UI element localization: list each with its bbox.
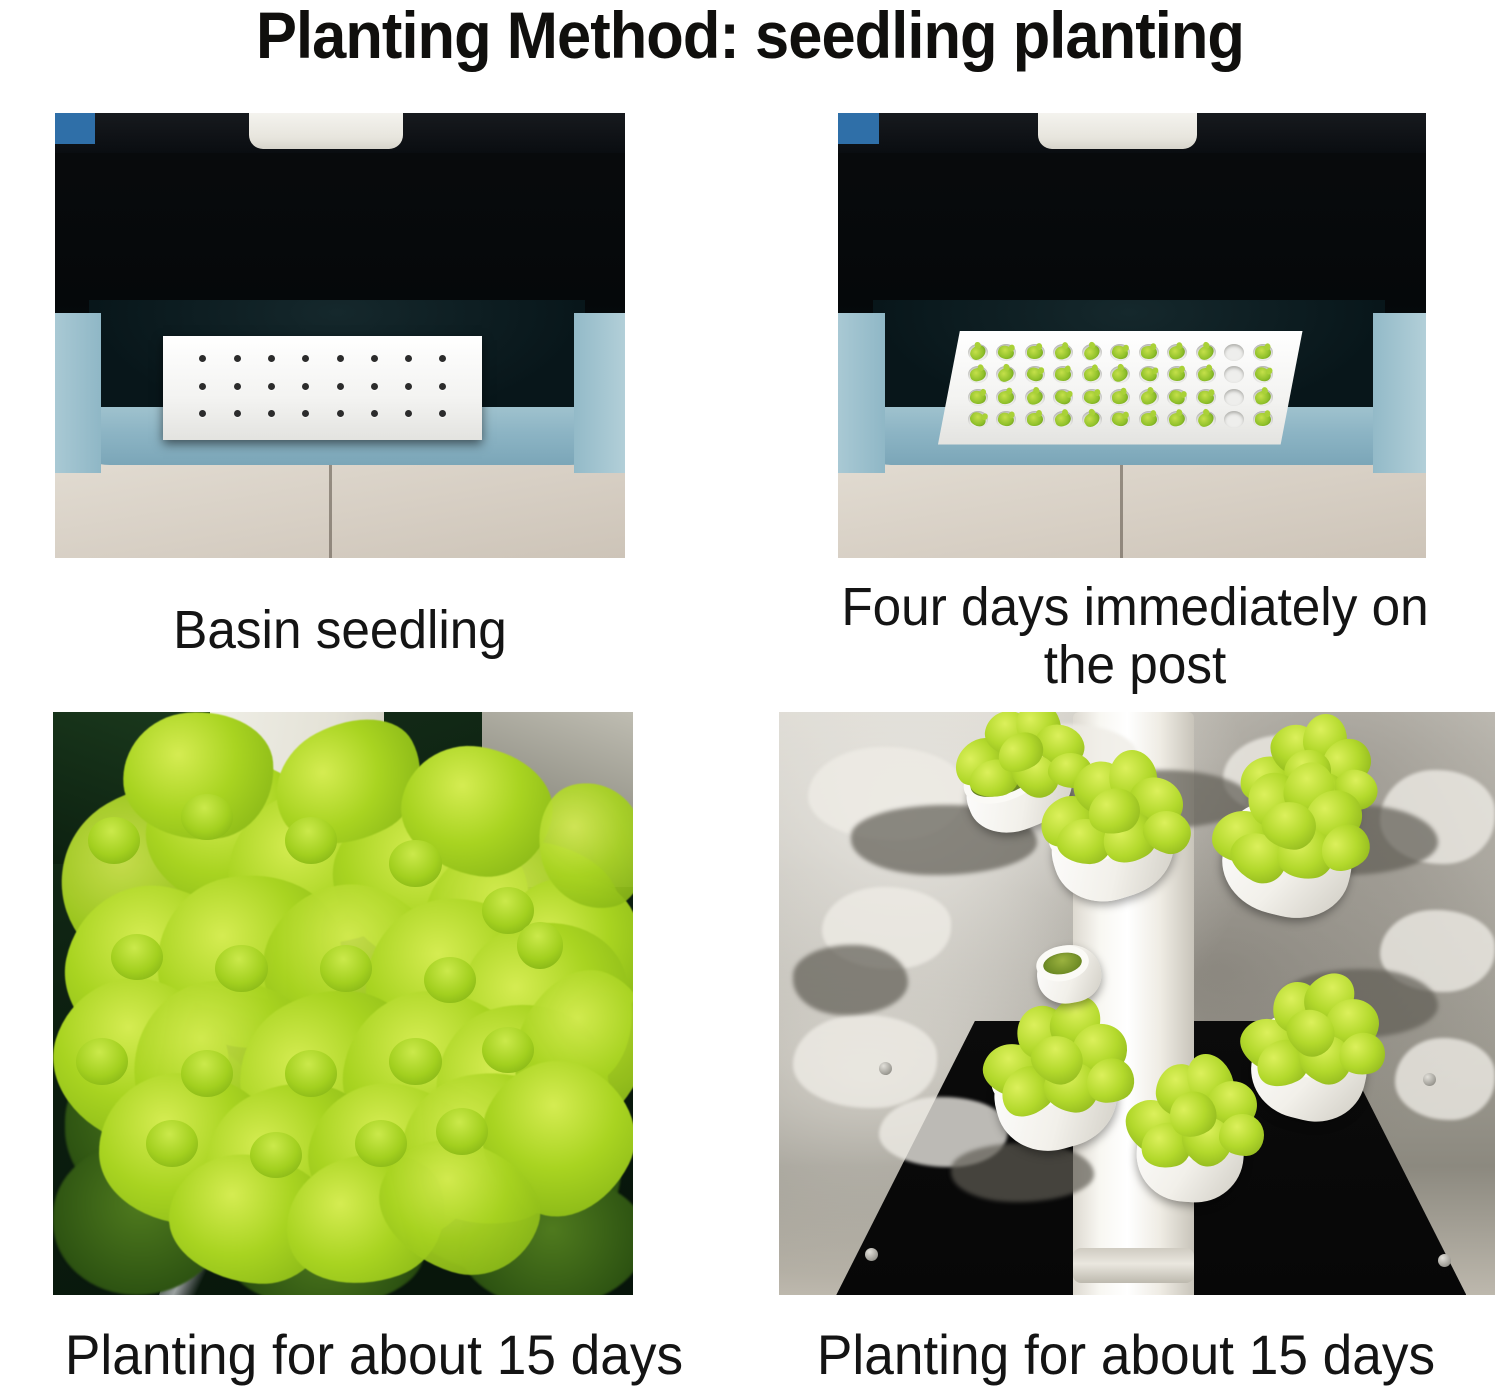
white-pipe-background [1038,113,1197,149]
leaf-highlight [181,1050,233,1097]
blue-corner-marker [838,113,879,144]
sprout-icon [1053,366,1073,383]
lettuce-scene [53,712,633,1295]
sprout-icon [1053,389,1073,406]
white-pipe-background [249,113,403,149]
sprout-icon [1196,344,1216,361]
sprout-icon [968,389,988,406]
seed-hole-icon [199,355,206,362]
seed-hole-icon [234,383,241,390]
sprout-icon [1167,366,1187,383]
foam-seed-board [163,336,482,441]
seed-hole-icon [268,383,275,390]
sprout-icon [1167,344,1187,361]
port-rim [1139,1093,1231,1162]
sprout-icon [1139,344,1159,361]
sprout-icon [1253,366,1273,383]
leaf-highlight [111,934,163,981]
sprout-icon [1253,411,1273,428]
sprout-icon [1053,344,1073,361]
seed-hole-icon [371,410,378,417]
leaf-highlight [517,922,563,969]
sprout-icon [1139,389,1159,406]
caption-four-days: Four days immediately on the post [807,578,1463,694]
tiled-floor [55,456,625,558]
sprout-icon [1196,366,1216,383]
seed-hole-icon [199,383,206,390]
tower-scene [779,712,1495,1295]
seed-hole-icon [234,410,241,417]
leaf-highlight [146,1120,198,1167]
sprout-icon [968,344,988,361]
seed-hole-icon [337,410,344,417]
sprout-icon [996,411,1016,428]
sprout-icon [968,366,988,383]
sprout-icon [1110,366,1130,383]
photo-panel-four-days [838,113,1426,558]
seed-hole-icon [405,355,412,362]
blue-corner-marker [55,113,95,144]
sprout-icon [1167,389,1187,406]
tray-rim-right [1373,313,1426,473]
sprout-icon [1053,411,1073,428]
sprout-icon [1224,344,1244,361]
foam-seed-board [938,331,1303,444]
sprout-hole-grid [963,341,1277,431]
sprout-icon [1167,411,1187,428]
wall-stain [793,945,908,1015]
leaf-highlight [285,817,337,864]
sprout-icon [1082,344,1102,361]
seed-hole-icon [439,383,446,390]
seed-hole-icon [439,355,446,362]
sprout-icon [1139,366,1159,383]
seed-hole-icon [337,383,344,390]
sprout-icon [996,366,1016,383]
wall-stain [951,1143,1094,1201]
tiled-floor [838,456,1426,558]
basin-scene [55,113,625,558]
leaf-highlight [88,817,140,864]
seed-hole-icon [371,383,378,390]
sprout-icon [1082,366,1102,383]
tray-rim-left [838,313,885,473]
pipe-collar [1073,1248,1195,1283]
screw-icon [1438,1254,1451,1267]
sprout-icon [996,389,1016,406]
leaf-highlight [389,840,441,887]
seed-hole-icon [199,410,206,417]
tray-rim-left [55,313,101,473]
caption-planting-15-days-left: Planting for about 15 days [19,1325,730,1385]
sprout-icon [1224,366,1244,383]
sprout-icon [1082,389,1102,406]
seed-hole-grid [186,345,461,428]
sprout-icon [1196,411,1216,428]
leaf-highlight [181,794,233,841]
photo-panel-hydroponic-tower [779,712,1495,1295]
seed-hole-icon [302,410,309,417]
seed-hole-icon [405,383,412,390]
sprout-icon [968,411,988,428]
leaf-highlight [436,1108,488,1155]
caption-planting-15-days-right: Planting for about 15 days [771,1325,1482,1385]
seed-hole-icon [405,410,412,417]
sprout-icon [1025,389,1045,406]
sprout-icon [1253,389,1273,406]
sprout-icon [1110,411,1130,428]
leaf-highlight [320,945,372,992]
page-title: Planting Method: seedling planting [53,0,1448,74]
caption-basin-seedling: Basin seedling [69,600,611,660]
wall-patch [793,1015,936,1108]
sprout-icon [1110,344,1130,361]
seed-hole-icon [337,355,344,362]
sprout-icon [996,344,1016,361]
seed-hole-icon [234,355,241,362]
photo-panel-basin-seedling [55,113,625,558]
sprout-icon [1025,366,1045,383]
screw-icon [879,1062,892,1075]
leaf-highlight [285,1050,337,1097]
sprout-icon [1253,344,1273,361]
sprout-icon [1224,411,1244,428]
seed-hole-icon [268,410,275,417]
tray-rim-right [574,313,625,473]
leaf-highlight [215,945,267,992]
sprout-icon [1224,389,1244,406]
sprout-icon [1110,389,1130,406]
photo-panel-lettuce-closeup [53,712,633,1295]
sprout-icon [1025,344,1045,361]
seed-hole-icon [439,410,446,417]
wall-patch [1395,1038,1495,1120]
sprout-icon [1082,411,1102,428]
basin-scene [838,113,1426,558]
leaf-highlight [355,1120,407,1167]
seed-hole-icon [268,355,275,362]
leaf-highlight [389,1038,441,1085]
seed-hole-icon [302,355,309,362]
seed-hole-icon [371,355,378,362]
sprout-icon [1139,411,1159,428]
sprout-icon [1196,389,1216,406]
seed-hole-icon [302,383,309,390]
sprout-icon [1025,411,1045,428]
